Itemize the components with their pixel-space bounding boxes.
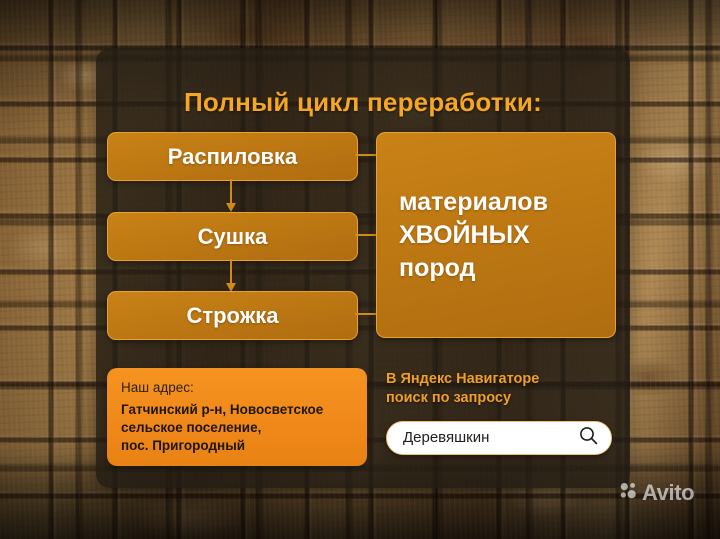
address-line-2: сельское поселение, [121,419,353,437]
avito-logo-icon [620,482,637,504]
search-query-value: Деревяшкин [403,429,489,446]
flow-step-planing[interactable]: Строжка [107,291,358,340]
flow-arrow-down-2 [230,259,232,284]
yandex-caption: В Яндекс Навигаторе поиск по запросу [386,370,616,409]
yandex-caption-line-1: В Яндекс Навигаторе [386,370,616,389]
flow-connector-1 [355,154,377,156]
avito-brand-text: Avito [642,482,694,504]
promo-banner: Полный цикл переработки: Распиловка Сушк… [0,0,720,539]
content-panel: Полный цикл переработки: Распиловка Сушк… [96,48,630,488]
flow-connector-2 [355,234,377,236]
material-line-3: пород [399,252,548,285]
flow-step-sawing[interactable]: Распиловка [107,132,358,181]
yandex-navigator-block: В Яндекс Навигаторе поиск по запросу Дер… [386,370,616,455]
address-line-3: пос. Пригородный [121,437,353,455]
yandex-caption-line-2: поиск по запросу [386,389,616,408]
flow-connector-3 [355,313,377,315]
address-value: Гатчинский р-н, Новосветское сельское по… [121,401,353,455]
flow-step-label: Распиловка [168,144,298,170]
material-type-box[interactable]: материалов ХВОЙНЫХ пород [376,132,616,338]
flow-step-label: Сушка [198,224,268,250]
address-line-1: Гатчинский р-н, Новосветское [121,401,353,419]
address-card: Наш адрес: Гатчинский р-н, Новосветское … [107,368,367,466]
address-label: Наш адрес: [121,380,353,395]
flow-arrow-down-1 [230,179,232,204]
material-line-2: ХВОЙНЫХ [399,219,548,252]
flow-step-label: Строжка [186,303,278,329]
material-line-1: материалов [399,186,548,219]
search-input[interactable]: Деревяшкин [386,421,612,455]
search-icon[interactable] [579,426,598,450]
avito-watermark: Avito [620,482,694,504]
flow-step-drying[interactable]: Сушка [107,212,358,261]
